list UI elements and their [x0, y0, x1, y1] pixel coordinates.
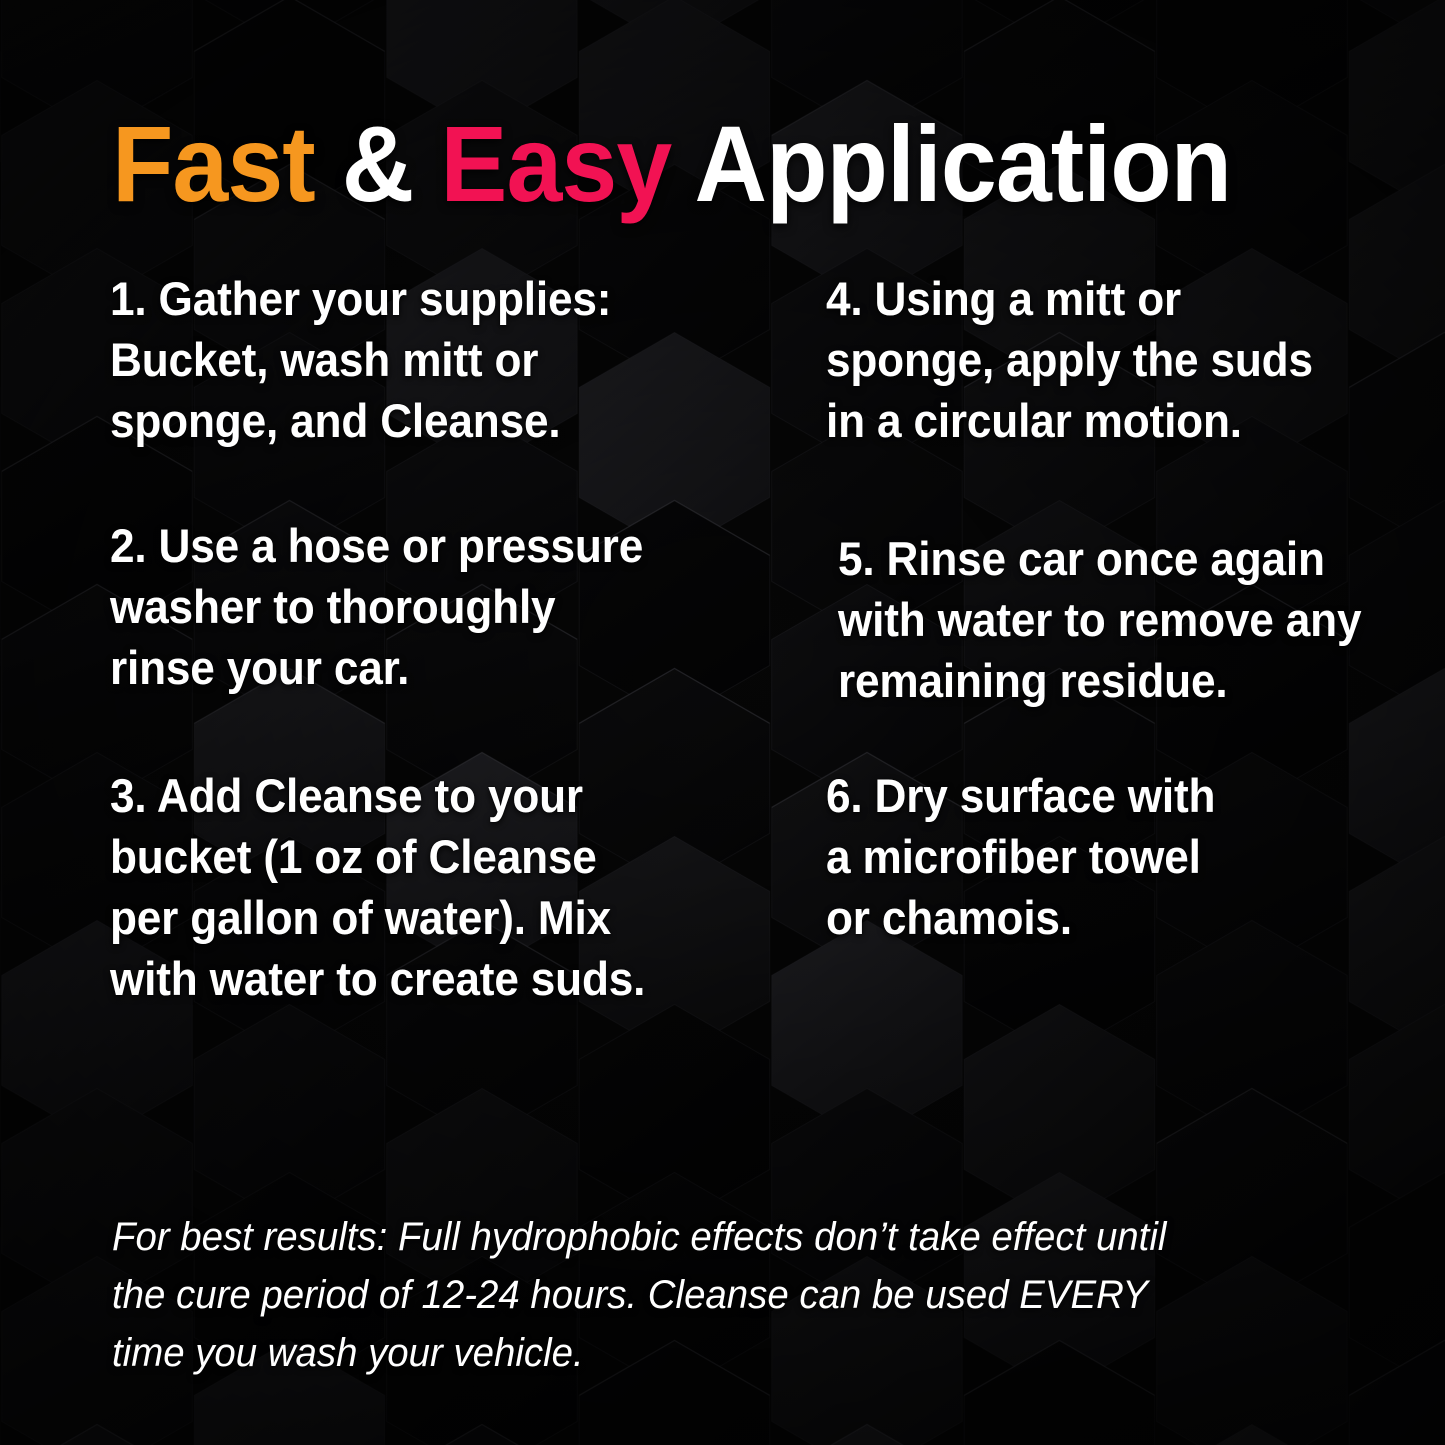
step-line: sponge, apply the suds: [826, 329, 1313, 390]
step-line: a microfiber towel: [826, 826, 1215, 887]
footnote-line: the cure period of 12-24 hours. Cleanse …: [112, 1266, 1322, 1324]
step-line: or chamois.: [826, 887, 1215, 948]
poster-canvas: Fast & Easy Application 1. Gather your s…: [0, 0, 1445, 1445]
footnote-line: time you wash your vehicle.: [112, 1324, 1322, 1382]
step-item-4: 4. Using a mitt or sponge, apply the sud…: [826, 268, 1313, 451]
title-word-application: Application: [694, 103, 1231, 224]
step-item-2: 2. Use a hose or pressure washer to thor…: [110, 515, 643, 698]
step-item-3: 3. Add Cleanse to your bucket (1 oz of C…: [110, 765, 645, 1009]
step-line: in a circular motion.: [826, 390, 1313, 451]
step-line: 1. Gather your supplies:: [110, 268, 611, 329]
step-item-6: 6. Dry surface with a microfiber towel o…: [826, 765, 1215, 948]
step-line: 6. Dry surface with: [826, 765, 1215, 826]
step-line: remaining residue.: [838, 650, 1361, 711]
page-title: Fast & Easy Application: [112, 110, 1231, 218]
step-line: 4. Using a mitt or: [826, 268, 1313, 329]
step-item-1: 1. Gather your supplies: Bucket, wash mi…: [110, 268, 611, 451]
step-line: bucket (1 oz of Cleanse: [110, 826, 645, 887]
step-line: Bucket, wash mitt or: [110, 329, 611, 390]
step-line: 2. Use a hose or pressure: [110, 515, 643, 576]
step-item-5: 5. Rinse car once again with water to re…: [838, 528, 1361, 711]
step-line: 5. Rinse car once again: [838, 528, 1361, 589]
poster-content: Fast & Easy Application 1. Gather your s…: [0, 0, 1445, 1445]
title-word-easy: Easy: [440, 103, 671, 224]
title-word-ampersand: &: [342, 103, 414, 224]
step-line: rinse your car.: [110, 637, 643, 698]
step-line: per gallon of water). Mix: [110, 887, 645, 948]
step-line: with water to remove any: [838, 589, 1361, 650]
step-line: sponge, and Cleanse.: [110, 390, 611, 451]
step-line: washer to thoroughly: [110, 576, 643, 637]
step-line: with water to create suds.: [110, 948, 645, 1009]
footnote-text: For best results: Full hydrophobic effec…: [112, 1208, 1322, 1382]
title-word-fast: Fast: [112, 103, 315, 224]
footnote-line: For best results: Full hydrophobic effec…: [112, 1208, 1322, 1266]
step-line: 3. Add Cleanse to your: [110, 765, 645, 826]
